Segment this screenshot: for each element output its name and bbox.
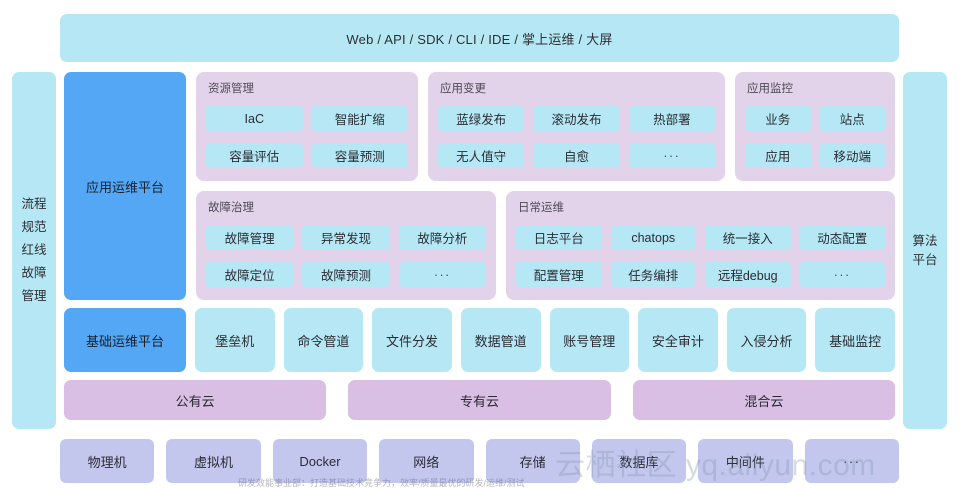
base-ops-cell-command-pipeline[interactable]: 命令管道: [284, 308, 364, 372]
chip-task-orchestration[interactable]: 任务编排: [611, 262, 697, 287]
chip-chatops[interactable]: chatops: [611, 225, 697, 250]
left-rail-line-5: 管理: [21, 285, 46, 308]
panel-title-resource-management: 资源管理: [208, 80, 408, 96]
capability-panels: 资源管理 IaC 智能扩缩 容量评估 容量预测: [196, 72, 895, 300]
access-channels-label: Web / API / SDK / CLI / IDE / 掌上运维 / 大屏: [346, 29, 612, 48]
chip-dynamic-config[interactable]: 动态配置: [800, 225, 886, 250]
panel-title-application-change: 应用变更: [440, 80, 715, 96]
base-ops-platform-label: 基础运维平台: [86, 331, 164, 350]
base-ops-cell-bastion[interactable]: 堡垒机: [195, 308, 275, 372]
panel-fault-governance: 故障治理 故障管理 异常发现 故障分析 故障定位 故障预测: [196, 191, 496, 300]
application-ops-platform-label: 应用运维平台: [86, 177, 164, 196]
left-rail-line-4: 故障: [21, 262, 46, 285]
chip-fault-analysis[interactable]: 故障分析: [399, 225, 486, 250]
middle-region: 流程 规范 红线 故障 管理 应用运维平台 资源管理: [12, 72, 947, 429]
base-ops-cell-security-audit[interactable]: 安全审计: [638, 308, 718, 372]
chip-application[interactable]: 应用: [745, 143, 811, 168]
right-rail-algorithm-platform: 算法 平台: [903, 72, 947, 429]
chip-row: 应用 移动端: [745, 143, 885, 168]
panel-grid-resource-management: IaC 智能扩缩 容量评估 容量预测: [206, 103, 408, 171]
capability-panel-row-top: 资源管理 IaC 智能扩缩 容量评估 容量预测: [196, 72, 895, 181]
chip-blue-green-release[interactable]: 蓝绿发布: [438, 106, 524, 131]
panel-grid-application-change: 蓝绿发布 滚动发布 热部署 无人值守 自愈 ···: [438, 103, 715, 171]
panel-title-fault-governance: 故障治理: [208, 199, 486, 215]
chip-row: 日志平台 chatops 统一接入 动态配置: [516, 225, 885, 250]
base-ops-platform-block: 基础运维平台: [64, 308, 186, 372]
left-rail-governance: 流程 规范 红线 故障 管理: [12, 72, 56, 429]
infra-cell-virtual-machine[interactable]: 虚拟机: [166, 439, 260, 483]
chip-log-platform[interactable]: 日志平台: [516, 225, 602, 250]
chip-mobile[interactable]: 移动端: [820, 143, 886, 168]
chip-config-management[interactable]: 配置管理: [516, 262, 602, 287]
application-layer-cluster: 应用运维平台 资源管理 IaC 智能扩缩: [64, 72, 895, 300]
chip-capacity-forecast[interactable]: 容量预测: [312, 143, 409, 168]
chip-more-daily-operations[interactable]: ···: [800, 262, 886, 287]
panel-resource-management: 资源管理 IaC 智能扩缩 容量评估 容量预测: [196, 72, 418, 181]
chip-site[interactable]: 站点: [820, 106, 886, 131]
right-rail-lines: 算法 平台: [912, 232, 937, 270]
chip-unified-access[interactable]: 统一接入: [705, 225, 791, 250]
chip-more-fault-governance[interactable]: ···: [399, 262, 486, 287]
infra-cell-more[interactable]: ···: [805, 439, 899, 483]
panel-daily-operations: 日常运维 日志平台 chatops 统一接入 动态配置 配置管理: [506, 191, 895, 300]
infra-cell-network[interactable]: 网络: [379, 439, 473, 483]
panel-application-change: 应用变更 蓝绿发布 滚动发布 热部署 无人值守 自愈: [428, 72, 725, 181]
chip-fault-localization[interactable]: 故障定位: [206, 262, 293, 287]
infra-cell-storage[interactable]: 存储: [486, 439, 580, 483]
left-rail-line-1: 流程: [21, 193, 46, 216]
cloud-cell-public[interactable]: 公有云: [64, 380, 326, 420]
cloud-row: 公有云 专有云 混合云: [64, 380, 895, 420]
panel-grid-daily-operations: 日志平台 chatops 统一接入 动态配置 配置管理 任务编排 远程debug: [516, 222, 885, 290]
base-ops-cell-account-management[interactable]: 账号管理: [550, 308, 630, 372]
right-rail-line-2: 平台: [912, 251, 937, 270]
infra-cell-docker[interactable]: Docker: [273, 439, 367, 483]
chip-row: 容量评估 容量预测: [206, 143, 408, 168]
cloud-cell-hybrid[interactable]: 混合云: [633, 380, 895, 420]
chip-unattended[interactable]: 无人值守: [438, 143, 524, 168]
architecture-diagram: Web / API / SDK / CLI / IDE / 掌上运维 / 大屏 …: [0, 0, 959, 487]
panel-title-daily-operations: 日常运维: [518, 199, 885, 215]
right-rail-line-1: 算法: [912, 232, 937, 251]
access-channels-bar: Web / API / SDK / CLI / IDE / 掌上运维 / 大屏: [60, 14, 899, 62]
base-ops-row: 基础运维平台 堡垒机 命令管道 文件分发 数据管道 账号管理 安全审计 入侵分析…: [64, 308, 895, 372]
panel-application-monitoring: 应用监控 业务 站点 应用 移动端: [735, 72, 895, 181]
chip-row: 无人值守 自愈 ···: [438, 143, 715, 168]
chip-business[interactable]: 业务: [745, 106, 811, 131]
chip-smart-scaling[interactable]: 智能扩缩: [312, 106, 409, 131]
panel-grid-application-monitoring: 业务 站点 应用 移动端: [745, 103, 885, 171]
chip-hot-deploy[interactable]: 热部署: [629, 106, 715, 131]
panel-title-application-monitoring: 应用监控: [747, 80, 885, 96]
chip-more-application-change[interactable]: ···: [629, 143, 715, 168]
chip-rolling-release[interactable]: 滚动发布: [533, 106, 619, 131]
chip-capacity-assessment[interactable]: 容量评估: [206, 143, 303, 168]
base-ops-cell-data-pipeline[interactable]: 数据管道: [461, 308, 541, 372]
base-ops-cell-intrusion-analysis[interactable]: 入侵分析: [727, 308, 807, 372]
chip-iac[interactable]: IaC: [206, 106, 303, 131]
infra-cell-middleware[interactable]: 中间件: [698, 439, 792, 483]
chip-row: 故障管理 异常发现 故障分析: [206, 225, 486, 250]
infrastructure-row: 物理机 虚拟机 Docker 网络 存储 数据库 中间件 ···: [60, 439, 899, 483]
base-ops-cell-file-distribution[interactable]: 文件分发: [372, 308, 452, 372]
left-rail-line-2: 规范: [21, 216, 46, 239]
capability-panel-row-bottom: 故障治理 故障管理 异常发现 故障分析 故障定位 故障预测: [196, 191, 895, 300]
chip-fault-prediction[interactable]: 故障预测: [302, 262, 389, 287]
chip-anomaly-detection[interactable]: 异常发现: [302, 225, 389, 250]
left-rail-line-3: 红线: [21, 239, 46, 262]
chip-row: IaC 智能扩缩: [206, 106, 408, 131]
chip-remote-debug[interactable]: 远程debug: [705, 262, 791, 287]
cloud-cell-dedicated[interactable]: 专有云: [348, 380, 610, 420]
chip-row: 业务 站点: [745, 106, 885, 131]
infra-cell-physical-machine[interactable]: 物理机: [60, 439, 154, 483]
chip-fault-management[interactable]: 故障管理: [206, 225, 293, 250]
core-stack: 应用运维平台 资源管理 IaC 智能扩缩: [64, 72, 895, 429]
chip-row: 故障定位 故障预测 ···: [206, 262, 486, 287]
chip-row: 蓝绿发布 滚动发布 热部署: [438, 106, 715, 131]
application-ops-platform-block: 应用运维平台: [64, 72, 186, 300]
panel-grid-fault-governance: 故障管理 异常发现 故障分析 故障定位 故障预测 ···: [206, 222, 486, 290]
chip-row: 配置管理 任务编排 远程debug ···: [516, 262, 885, 287]
chip-self-healing[interactable]: 自愈: [533, 143, 619, 168]
base-ops-cell-base-monitoring[interactable]: 基础监控: [815, 308, 895, 372]
left-rail-lines: 流程 规范 红线 故障 管理: [21, 193, 46, 309]
infra-cell-database[interactable]: 数据库: [592, 439, 686, 483]
